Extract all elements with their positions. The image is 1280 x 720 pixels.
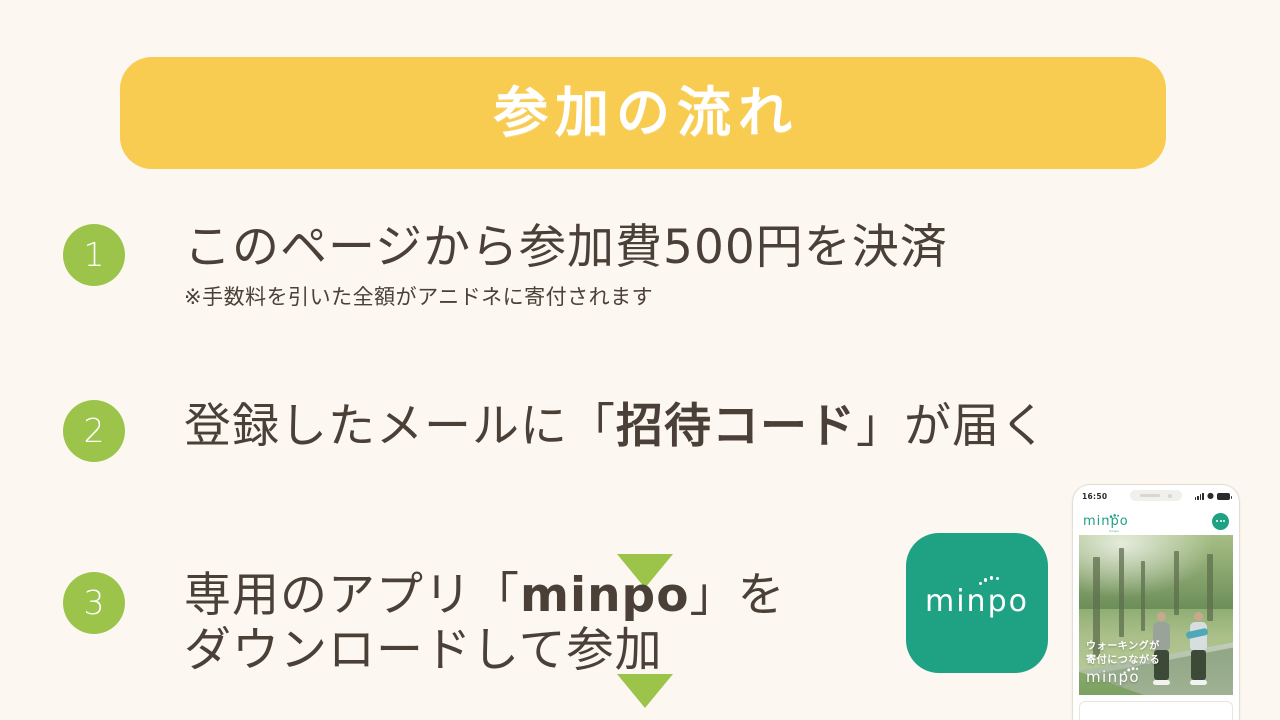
tree-icon (1174, 551, 1179, 615)
walker-shoes (1190, 680, 1207, 685)
status-bar-icons: ● (1195, 492, 1230, 500)
phone-app-bar: minpo minpo (1073, 507, 1239, 535)
step-title-3-line-2: ダウンロードして参加 (184, 623, 963, 678)
phone-status-bar: 16:50 ● (1073, 485, 1239, 507)
phone-mockup: 16:50 ● minpo minpo (1072, 484, 1240, 720)
walker-head (1157, 612, 1166, 621)
hero-headline-line-2: 寄付につながる (1086, 654, 1160, 668)
minpo-app-icon[interactable]: minpo (906, 533, 1048, 673)
step-title-3-suffix: 」を (689, 568, 785, 623)
more-options-icon[interactable] (1212, 513, 1229, 530)
tree-icon (1141, 561, 1145, 631)
paw-toes-icon (1106, 513, 1122, 520)
cellular-signal-icon (1195, 492, 1204, 500)
step-item-2: 2 登録したメールに「招待コード」が届く (63, 400, 1263, 462)
paw-toes-icon (978, 575, 1004, 587)
front-camera-icon (1168, 494, 1172, 498)
step-badge-3: 3 (63, 572, 125, 634)
slide-canvas: 参加の流れ 1 このページから参加費500円を決済 ※手数料を引いた全額がアニド… (0, 0, 1280, 720)
step-title-1: このページから参加費500円を決済 (184, 221, 1223, 276)
tree-icon (1207, 554, 1213, 621)
phone-hero-image: ウォーキングが 寄付につながる minpo (1079, 535, 1233, 695)
step-body-1: このページから参加費500円を決済 ※手数料を引いた全額がアニドネに寄付されます (184, 221, 1223, 310)
wifi-icon: ● (1207, 492, 1214, 500)
step-item-3: 3 専用のアプリ「minpo」を ダウンロードして参加 (63, 568, 963, 679)
section-header-banner: 参加の流れ (120, 57, 1166, 169)
hero-minpo-logo: minpo (1086, 670, 1160, 685)
status-bar-time: 16:50 (1082, 492, 1107, 501)
paw-toes-icon (1123, 666, 1142, 675)
hero-headline-line-1: ウォーキングが (1086, 640, 1160, 654)
tree-icon (1119, 548, 1124, 638)
towel-icon (1185, 628, 1208, 639)
phone-minpo-logo: minpo minpo (1083, 515, 1129, 528)
step-title-2: 登録したメールに「招待コード」が届く (184, 400, 1263, 455)
step-badge-1: 1 (63, 224, 125, 286)
earpiece-speaker-icon (1140, 494, 1160, 497)
step-title-2-prefix: 登録したメールに「 (184, 399, 616, 454)
step-title-3-emphasis: minpo (520, 568, 689, 623)
step-body-2: 登録したメールに「招待コード」が届く (184, 400, 1263, 455)
step-title-3-prefix: 専用のアプリ「 (184, 568, 520, 623)
app-icon-wordmark: minpo (925, 587, 1029, 619)
walker-legs (1191, 650, 1206, 680)
step-body-3: 専用のアプリ「minpo」を ダウンロードして参加 (184, 568, 963, 679)
walker-figure (1190, 612, 1207, 685)
page-title: 参加の流れ (487, 86, 799, 140)
phone-content-card (1079, 701, 1233, 720)
triangle-down-icon (617, 674, 673, 708)
step-title-2-suffix: 」が届く (856, 399, 1048, 454)
step-item-1: 1 このページから参加費500円を決済 ※手数料を引いた全額がアニドネに寄付され… (63, 221, 1223, 310)
step-badge-2: 2 (63, 400, 125, 462)
app-icon-label: minpo (925, 584, 1029, 619)
phone-notch (1130, 490, 1182, 501)
walker-torso (1190, 622, 1207, 650)
step-title-2-emphasis: 招待コード (616, 399, 856, 454)
phone-logo-subtext: minpo (1109, 530, 1119, 533)
step-title-3-line-1: 専用のアプリ「minpo」を (184, 568, 963, 623)
hero-text-overlay: ウォーキングが 寄付につながる minpo (1086, 640, 1160, 685)
battery-full-icon (1217, 493, 1230, 500)
walker-head (1194, 612, 1203, 621)
step-note-1: ※手数料を引いた全額がアニドネに寄付されます (184, 285, 1223, 310)
